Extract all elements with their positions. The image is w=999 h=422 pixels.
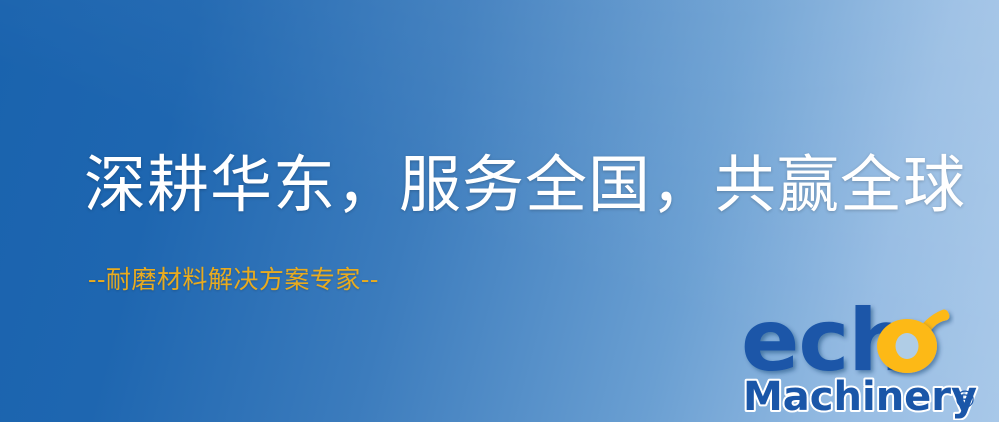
page-title: 深耕华东，服务全国，共赢全球 — [84, 152, 966, 217]
logo-letter-o — [877, 319, 937, 373]
echo-machinery-logo: ech Machinery Machinery ® — [741, 292, 991, 420]
svg-text:Machinery: Machinery — [743, 374, 977, 420]
svg-text:®: ® — [953, 386, 977, 414]
banner-subtitle: --耐磨材料解决方案专家-- — [88, 266, 379, 294]
logo-tagline: Machinery Machinery ® — [743, 374, 977, 420]
promo-banner: 深耕华东，服务全国，共赢全球 --耐磨材料解决方案专家-- ech — [0, 0, 999, 422]
